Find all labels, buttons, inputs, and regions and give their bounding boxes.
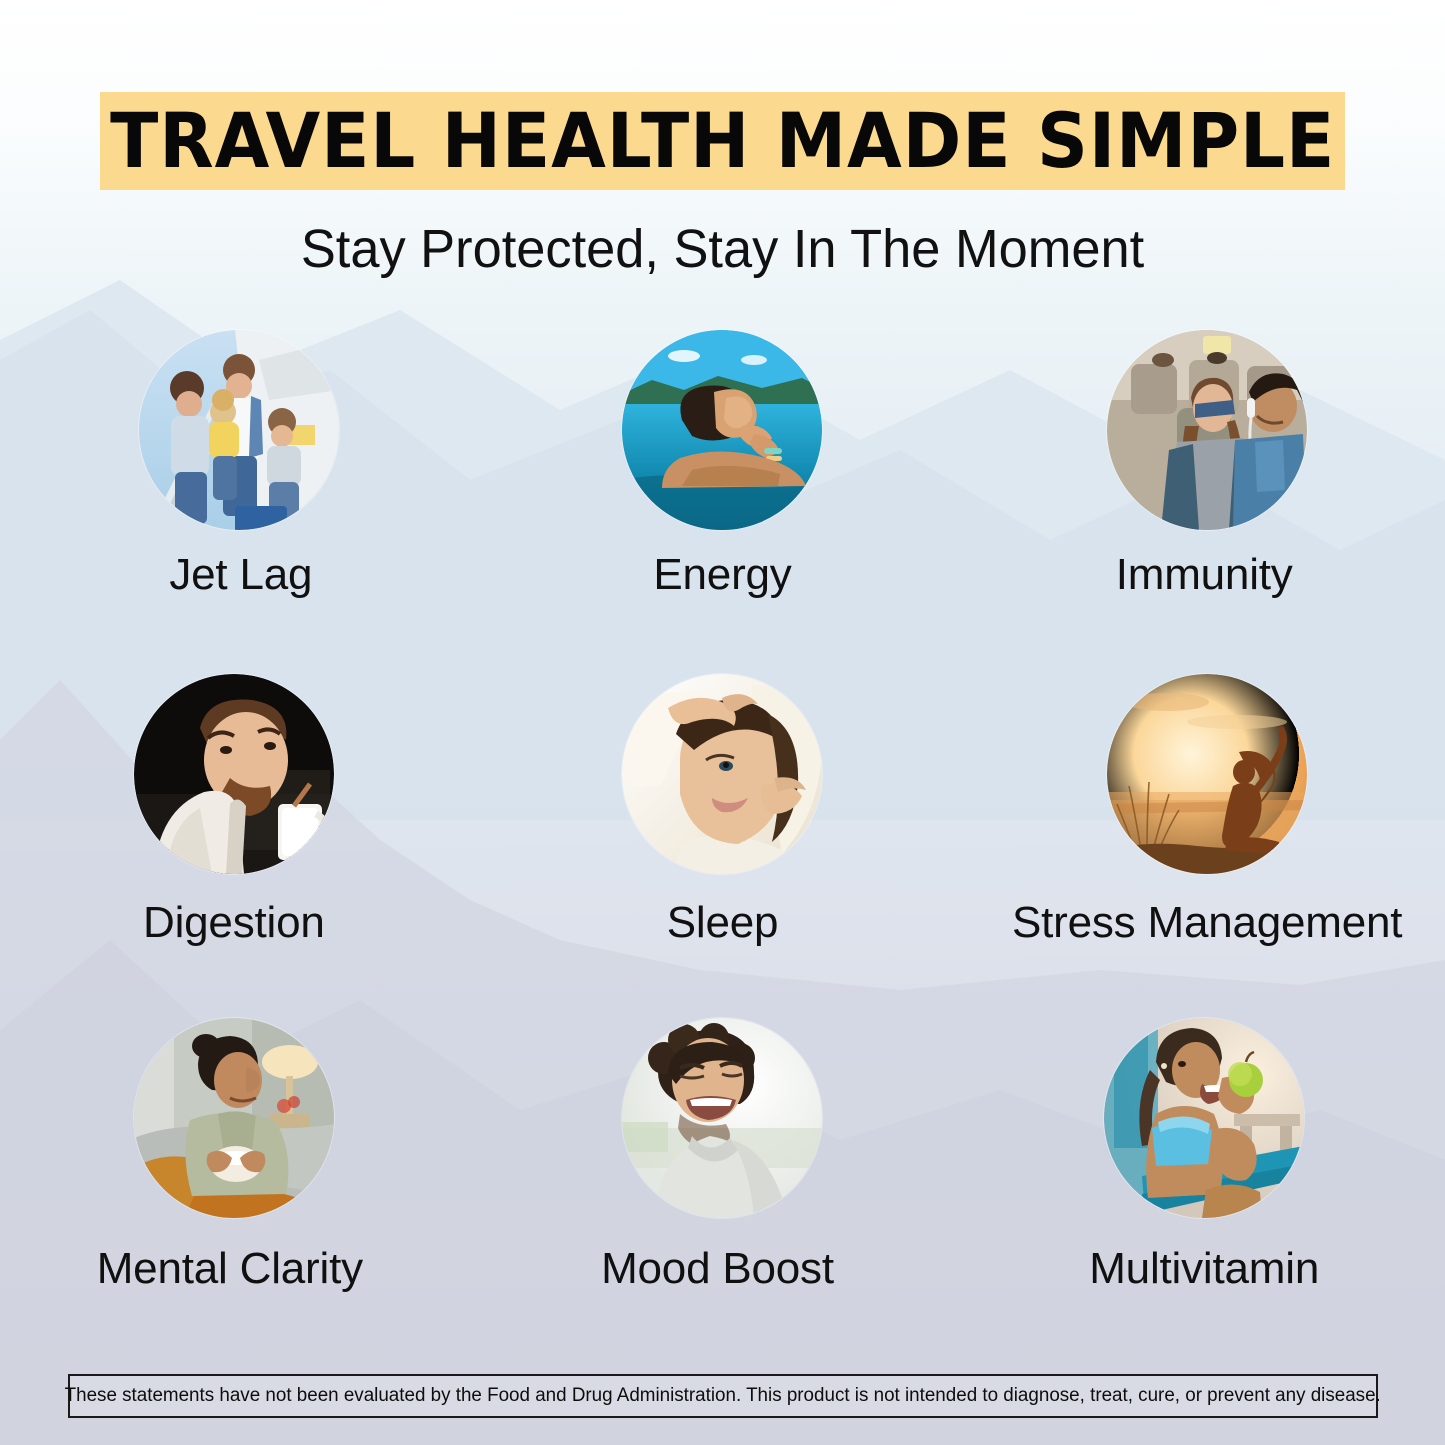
laughing-man-outdoors-photo [622, 1018, 822, 1218]
woman-with-green-apple-photo [1104, 1018, 1304, 1218]
benefit-item-immunity[interactable]: Immunity [963, 330, 1445, 674]
benefit-item-energy[interactable]: Energy [482, 330, 964, 674]
fda-disclaimer-box: These statements have not been evaluated… [68, 1374, 1378, 1418]
benefit-label: Sleep [667, 900, 779, 946]
title-banner: TRAVEL HEALTH MADE SIMPLE [100, 92, 1345, 190]
benefit-item-mood-boost[interactable]: Mood Boost [482, 1018, 964, 1362]
benefit-label: Stress Management [1012, 900, 1402, 946]
benefit-item-sleep[interactable]: Sleep [482, 674, 964, 1018]
benefit-item-multivitamin[interactable]: Multivitamin [963, 1018, 1445, 1362]
woman-on-couch-with-mug-photo [134, 1018, 334, 1218]
benefit-label: Digestion [143, 900, 325, 946]
woman-waking-in-bed-photo [622, 674, 822, 874]
benefit-label: Multivitamin [1089, 1246, 1319, 1292]
benefit-item-digestion[interactable]: Digestion [0, 674, 482, 1018]
benefits-grid: Jet Lag [0, 330, 1445, 1362]
benefit-label: Jet Lag [169, 552, 312, 598]
infographic-page: TRAVEL HEALTH MADE SIMPLE Stay Protected… [0, 0, 1445, 1445]
benefit-item-mental-clarity[interactable]: Mental Clarity [0, 1018, 482, 1362]
sunset-yoga-silhouette-photo [1107, 674, 1307, 874]
benefit-item-stress-management[interactable]: Stress Management [963, 674, 1445, 1018]
page-subtitle: Stay Protected, Stay In The Moment [22, 218, 1424, 280]
page-title: TRAVEL HEALTH MADE SIMPLE [110, 103, 1335, 179]
family-boarding-airplane-photo [139, 330, 339, 530]
woman-in-ocean-photo [622, 330, 822, 530]
fda-disclaimer-text: These statements have not been evaluated… [65, 1385, 1381, 1407]
man-with-mug-photo [134, 674, 334, 874]
passengers-resting-on-plane-photo [1107, 330, 1307, 530]
benefit-item-jet-lag[interactable]: Jet Lag [0, 330, 482, 674]
benefit-label: Immunity [1116, 552, 1293, 598]
benefit-label: Mental Clarity [97, 1246, 363, 1292]
benefit-label: Energy [653, 552, 791, 598]
benefit-label: Mood Boost [601, 1246, 834, 1292]
